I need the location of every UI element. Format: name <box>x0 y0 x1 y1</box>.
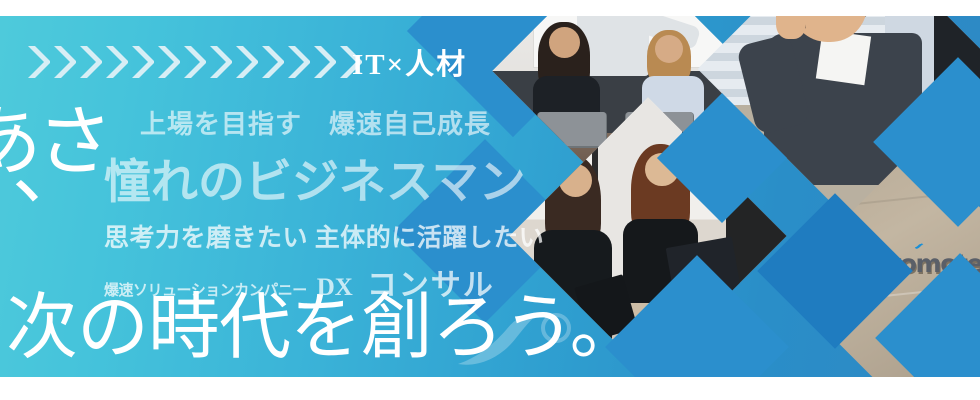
chevron-right-icon <box>26 44 50 80</box>
chevron-right-icon <box>52 44 76 80</box>
eyebrow-tag: IT×人材 <box>352 48 467 82</box>
chevron-right-icon <box>260 44 284 80</box>
kangaroo-icon <box>885 243 953 250</box>
middle-copy-stack: 上場を目指す 爆速自己成長 憧れのビジネスマン 思考力を磨きたい 主体的に活躍し… <box>104 104 604 304</box>
copy-line-2: 憧れのビジネスマン <box>104 143 604 212</box>
chevron-right-icon <box>182 44 206 80</box>
chevron-right-icon <box>130 44 154 80</box>
copy-line-1: 上場を目指す 爆速自己成長 <box>140 104 604 141</box>
chevron-right-icon <box>156 44 180 80</box>
chevron-right-icon <box>208 44 232 80</box>
banner-page: cellpromote, inc. IT×人材 さあ、 上場を目指す 爆 <box>0 0 980 400</box>
hero-banner: cellpromote, inc. IT×人材 さあ、 上場を目指す 爆 <box>0 16 980 377</box>
chevron-right-icon <box>234 44 258 80</box>
chevron-right-icon <box>286 44 310 80</box>
vertical-lead-text: さあ、 <box>8 100 104 310</box>
page-title: 次の時代を創ろう。 <box>6 292 641 364</box>
chevron-row <box>26 44 362 80</box>
chevron-right-icon <box>312 44 336 80</box>
chevron-right-icon <box>78 44 102 80</box>
chevron-right-icon <box>104 44 128 80</box>
copy-line-3: 思考力を磨きたい 主体的に活躍したい <box>104 218 604 254</box>
